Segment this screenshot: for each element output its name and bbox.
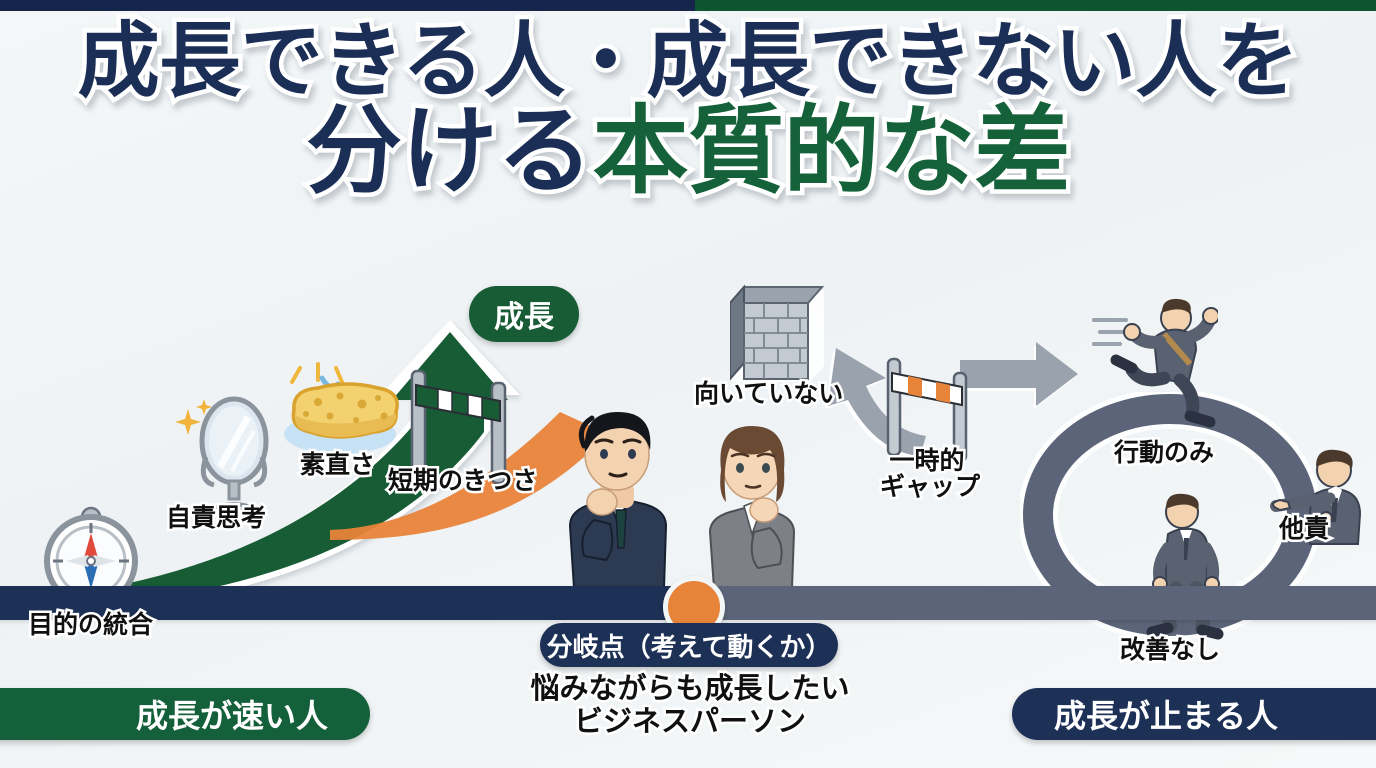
top-accent-bar-left xyxy=(0,0,695,11)
center-caption-line1: 悩みながらも成長したい xyxy=(470,672,910,705)
label-short-term-hardship: 短期のきつさ xyxy=(388,468,537,494)
running-person-icon xyxy=(1092,298,1218,430)
stalled-growth-pill: 成長が止まる人 xyxy=(1012,688,1376,740)
sponge-icon xyxy=(278,362,408,462)
label-no-improvement: 改善なし xyxy=(1120,637,1220,663)
infographic-canvas: 成長できる人・成長できない人を 分ける本質的な差 xyxy=(0,0,1376,768)
business-people-illustration xyxy=(540,398,830,594)
branch-point-pill: 分岐点（考えて動くか） xyxy=(540,623,838,667)
label-not-suited: 向いていない xyxy=(694,381,843,407)
baseline-right xyxy=(688,586,1376,620)
label-action-only: 行動のみ xyxy=(1114,440,1214,466)
brick-wall-icon xyxy=(730,281,824,391)
growth-pill: 成長 xyxy=(469,286,579,342)
title-line-2-green: 本質的な差 xyxy=(593,95,1071,207)
label-temporary-gap-line2: ギャップ xyxy=(880,474,974,500)
top-accent-bar-right xyxy=(695,0,1376,11)
label-openness: 素直さ xyxy=(300,452,375,478)
title-line-2: 分ける本質的な差 xyxy=(0,104,1376,198)
mirror-icon xyxy=(172,393,280,521)
label-temporary-gap: 一時的 ギャップ xyxy=(880,448,974,500)
label-blaming-others: 他責 xyxy=(1279,516,1329,542)
center-caption-line2: ビジネスパーソン xyxy=(470,705,910,738)
page-title: 成長できる人・成長できない人を 分ける本質的な差 xyxy=(0,14,1376,198)
label-purpose: 目的の統合 xyxy=(28,612,153,638)
title-line-1: 成長できる人・成長できない人を xyxy=(0,22,1376,102)
title-line-2-navy: 分ける xyxy=(306,95,593,207)
label-temporary-gap-line1: 一時的 xyxy=(880,448,974,474)
label-self-accountability: 自責思考 xyxy=(166,505,266,531)
fast-growth-pill: 成長が速い人 xyxy=(0,688,370,740)
center-caption: 悩みながらも成長したい ビジネスパーソン xyxy=(470,672,910,738)
